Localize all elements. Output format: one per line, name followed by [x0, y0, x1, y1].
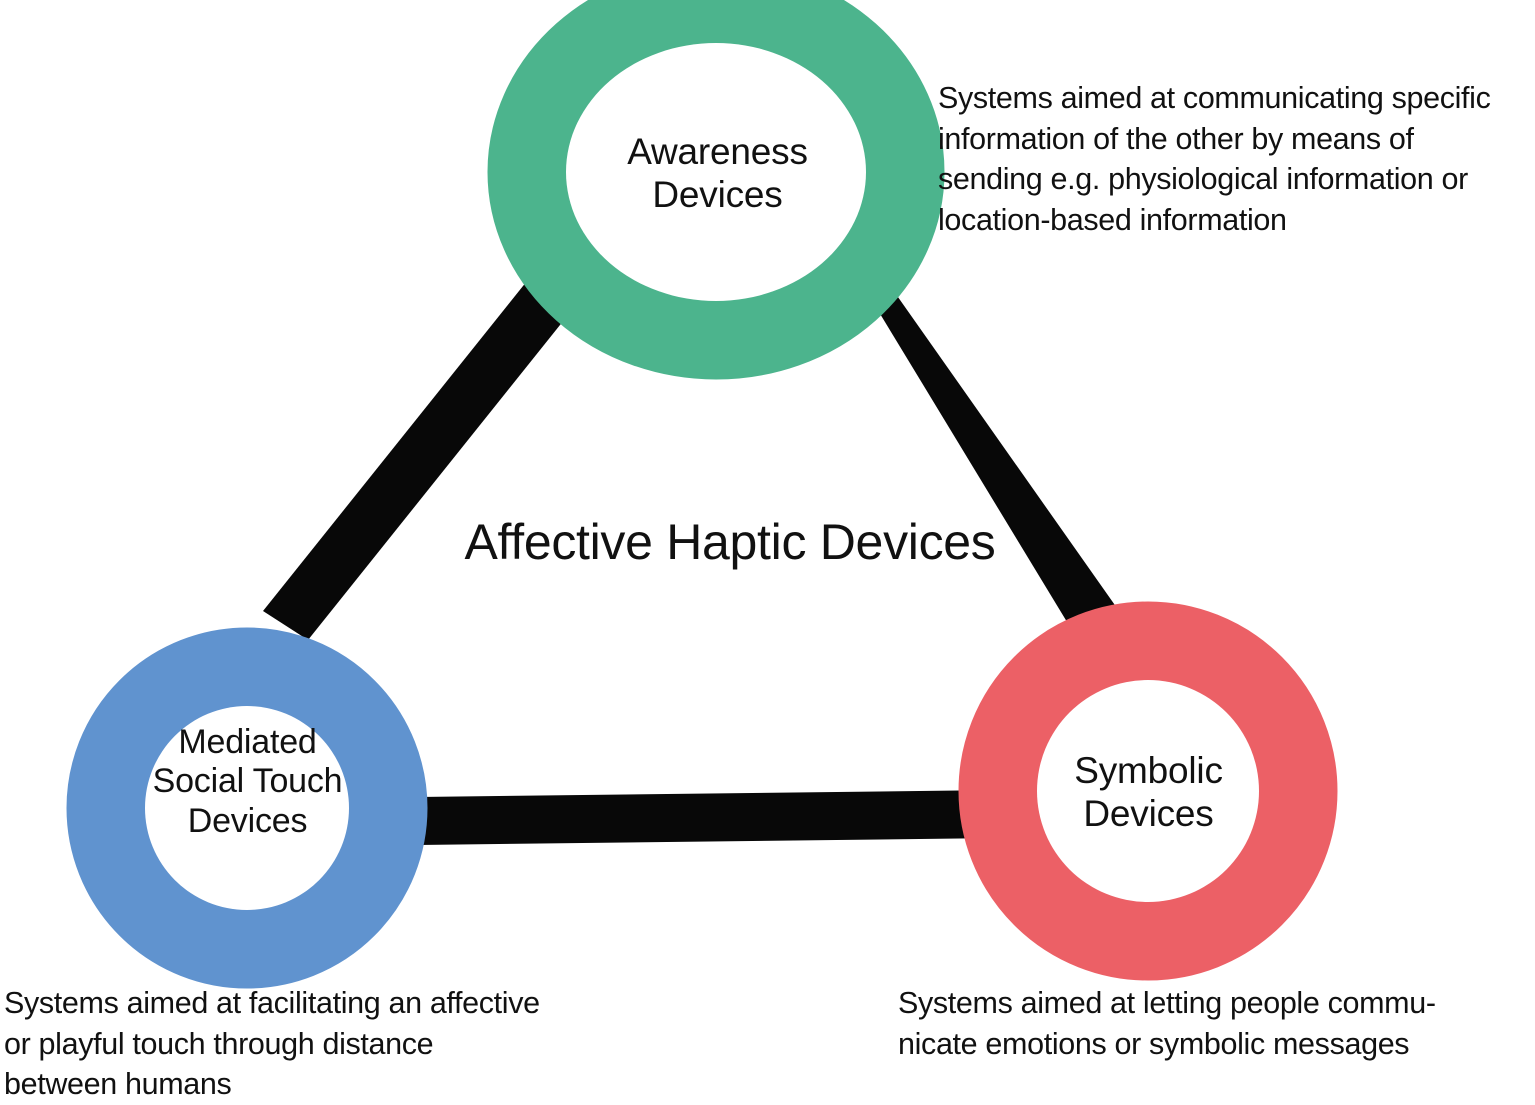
caption-awareness: Systems aimed at communicating specific … — [938, 78, 1535, 240]
symbolic-inner-circle — [1037, 680, 1259, 902]
node-awareness[interactable] — [527, 4, 905, 340]
connector-mediated-to-symbolic — [418, 790, 1000, 845]
diagram-center-title: Affective Haptic Devices — [430, 515, 1030, 570]
caption-symbolic: Systems aimed at letting people commu- n… — [898, 983, 1518, 1064]
mediated-inner-circle — [145, 706, 349, 910]
connector-awareness-to-mediated — [263, 261, 588, 640]
caption-mediated-social-touch: Systems aimed at facilitating an affecti… — [4, 983, 604, 1105]
diagram-canvas: Awareness Devices Mediated Social Touch … — [0, 0, 1535, 1102]
node-symbolic[interactable] — [998, 641, 1298, 941]
node-mediated-social-touch[interactable] — [106, 667, 388, 949]
awareness-inner-circle — [566, 43, 866, 301]
